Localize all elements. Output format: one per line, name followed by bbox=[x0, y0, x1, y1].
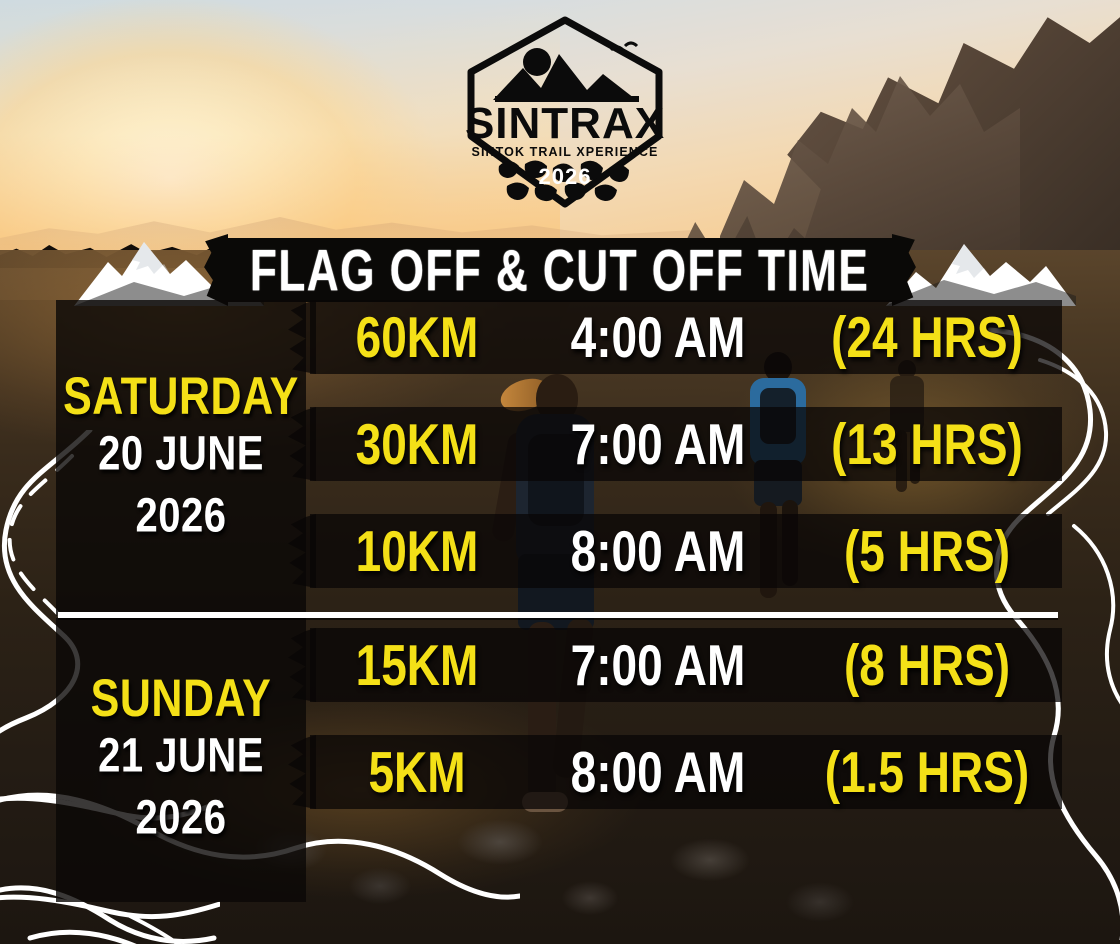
cut-off-duration: (8 HRS) bbox=[792, 636, 1062, 693]
table-row: 60KM 4:00 AM (24 HRS) bbox=[310, 300, 1062, 374]
flag-off-time: 8:00 AM bbox=[524, 743, 792, 800]
day-name: SATURDAY bbox=[63, 370, 299, 425]
cut-off-duration: (1.5 HRS) bbox=[792, 743, 1062, 800]
distance-value: 10KM bbox=[310, 522, 524, 579]
distance-value: 30KM bbox=[310, 415, 524, 472]
logo-year: 2026 bbox=[539, 164, 592, 189]
mountain-range-right-icon bbox=[886, 236, 1076, 306]
flag-off-time: 7:00 AM bbox=[524, 636, 792, 693]
table-row: 10KM 8:00 AM (5 HRS) bbox=[310, 514, 1062, 588]
title-banner: FLAG OFF & CUT OFF TIME bbox=[224, 238, 896, 302]
flag-off-time: 7:00 AM bbox=[524, 415, 792, 472]
table-row: 15KM 7:00 AM (8 HRS) bbox=[310, 628, 1062, 702]
distance-value: 60KM bbox=[310, 308, 524, 365]
day-year: 2026 bbox=[136, 487, 227, 546]
cut-off-duration: (5 HRS) bbox=[792, 522, 1062, 579]
cut-off-duration: (24 HRS) bbox=[792, 308, 1062, 365]
logo-brand: SINTRAX bbox=[465, 99, 665, 148]
distance-value: 5KM bbox=[310, 743, 524, 800]
day-panel-saturday: SATURDAY 20 JUNE 2026 bbox=[56, 300, 306, 616]
distance-value: 15KM bbox=[310, 636, 524, 693]
flag-off-time: 4:00 AM bbox=[524, 308, 792, 365]
table-row: 5KM 8:00 AM (1.5 HRS) bbox=[310, 735, 1062, 809]
cut-off-duration: (13 HRS) bbox=[792, 415, 1062, 472]
table-row: 30KM 7:00 AM (13 HRS) bbox=[310, 407, 1062, 481]
sun-icon bbox=[523, 48, 551, 76]
mountain-icon bbox=[493, 54, 639, 102]
day-year: 2026 bbox=[136, 789, 227, 848]
logo-tagline: SINTOK TRAIL XPERIENCE bbox=[472, 145, 659, 159]
day-panel-sunday: SUNDAY 21 JUNE 2026 bbox=[56, 618, 306, 902]
event-poster: SINTRAX SINTOK TRAIL XPERIENCE 2026 FLAG… bbox=[0, 0, 1120, 944]
flag-off-time: 8:00 AM bbox=[524, 522, 792, 579]
day-date: 21 JUNE bbox=[98, 727, 264, 786]
day-date: 20 JUNE bbox=[98, 425, 264, 484]
sintrax-logo: SINTRAX SINTOK TRAIL XPERIENCE 2026 bbox=[463, 16, 668, 208]
day-section-divider bbox=[58, 612, 1058, 618]
day-name: SUNDAY bbox=[91, 672, 272, 727]
page-title: FLAG OFF & CUT OFF TIME bbox=[250, 235, 869, 304]
schedule-table: 60KM 4:00 AM (24 HRS) 30KM 7:00 AM (13 H… bbox=[310, 300, 1062, 842]
